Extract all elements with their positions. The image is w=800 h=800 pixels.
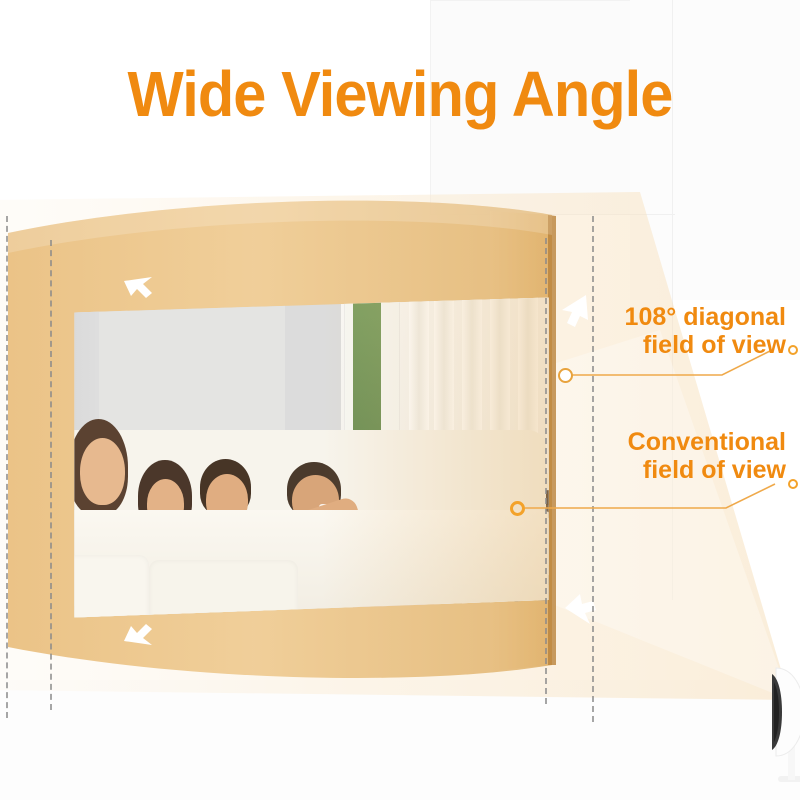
label-conventional-line1: Conventional: [628, 428, 786, 456]
dashed-guide-outer-left: [6, 216, 8, 718]
label-wide-fov-line1: 108° diagonal: [625, 303, 786, 331]
marker-wide-fov[interactable]: [558, 368, 573, 383]
security-camera: [762, 660, 800, 800]
label-wide-fov: 108° diagonal field of view: [625, 303, 786, 359]
backdrop-wall-right: [630, 0, 800, 300]
label-wide-fov-line2: field of view: [625, 331, 786, 359]
dashed-guide-inner-right: [545, 238, 547, 704]
promo-banner: Wide Viewing Angle: [0, 0, 800, 800]
dashed-guide-outer-right: [592, 216, 594, 722]
marker-conventional-endpoint: [788, 479, 798, 489]
label-conventional-fov: Conventional field of view: [628, 428, 786, 484]
page-title: Wide Viewing Angle: [28, 62, 772, 126]
marker-wide-fov-endpoint: [788, 345, 798, 355]
backdrop-floor: [0, 680, 800, 800]
label-conventional-line2: field of view: [628, 456, 786, 484]
marker-conventional-fov[interactable]: [510, 501, 525, 516]
dashed-guide-inner-left: [50, 240, 52, 710]
